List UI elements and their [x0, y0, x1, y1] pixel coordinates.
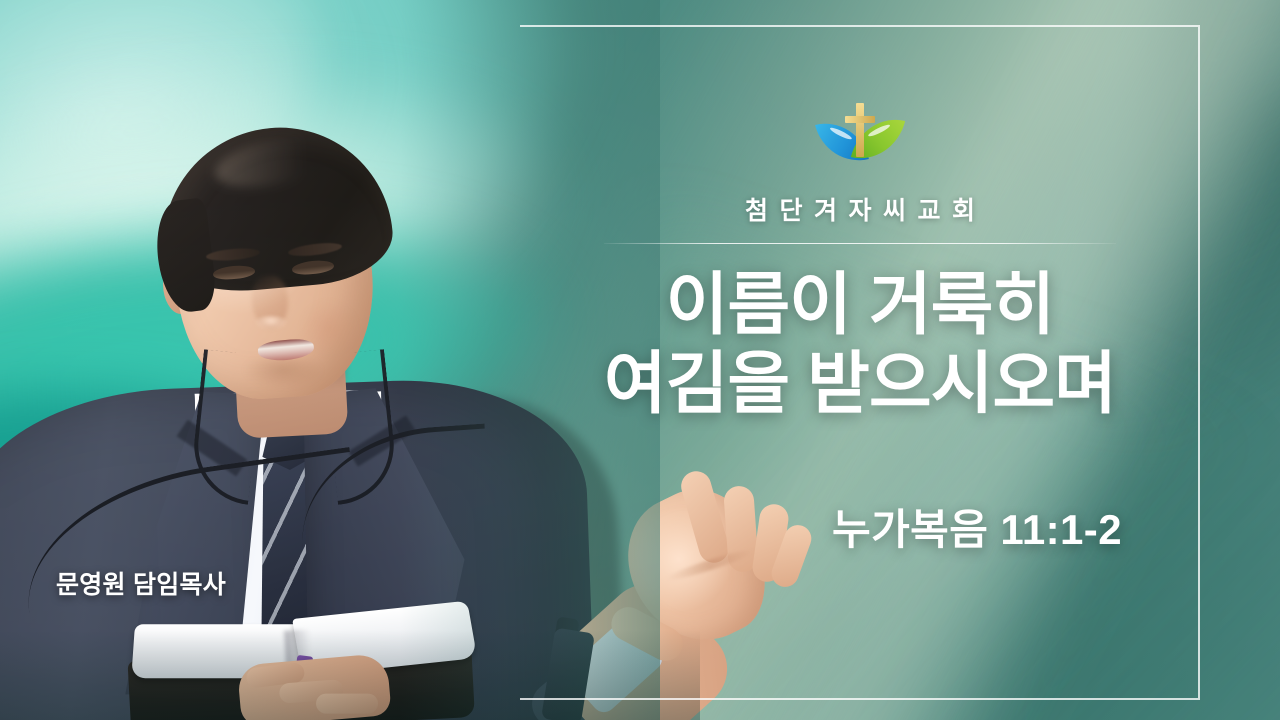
sermon-title-line-1: 이름이 거룩히 [604, 266, 1116, 345]
nose-highlight [254, 316, 288, 330]
bible-hand-finger-3 [316, 694, 378, 714]
open-bible [125, 603, 474, 720]
cross-icon [856, 103, 864, 157]
scripture-reference: 누가복음 11:1-2 [832, 496, 1122, 557]
speaker-name-label: 문영원 담임목사 [56, 565, 226, 601]
sermon-title: 이름이 거룩히 여김을 받으시오며 [604, 266, 1116, 424]
church-name: 첨단겨자씨교회 [733, 191, 986, 227]
title-panel: 첨단겨자씨교회 이름이 거룩히 여김을 받으시오며 누가복음 11:1-2 [520, 25, 1200, 700]
sermon-title-card: 첨단겨자씨교회 이름이 거룩히 여김을 받으시오며 누가복음 11:1-2 문영… [0, 0, 1280, 720]
church-leaf-cross-logo [814, 103, 906, 169]
title-divider [604, 243, 1116, 244]
sermon-title-line-2: 여김을 받으시오며 [604, 345, 1116, 424]
